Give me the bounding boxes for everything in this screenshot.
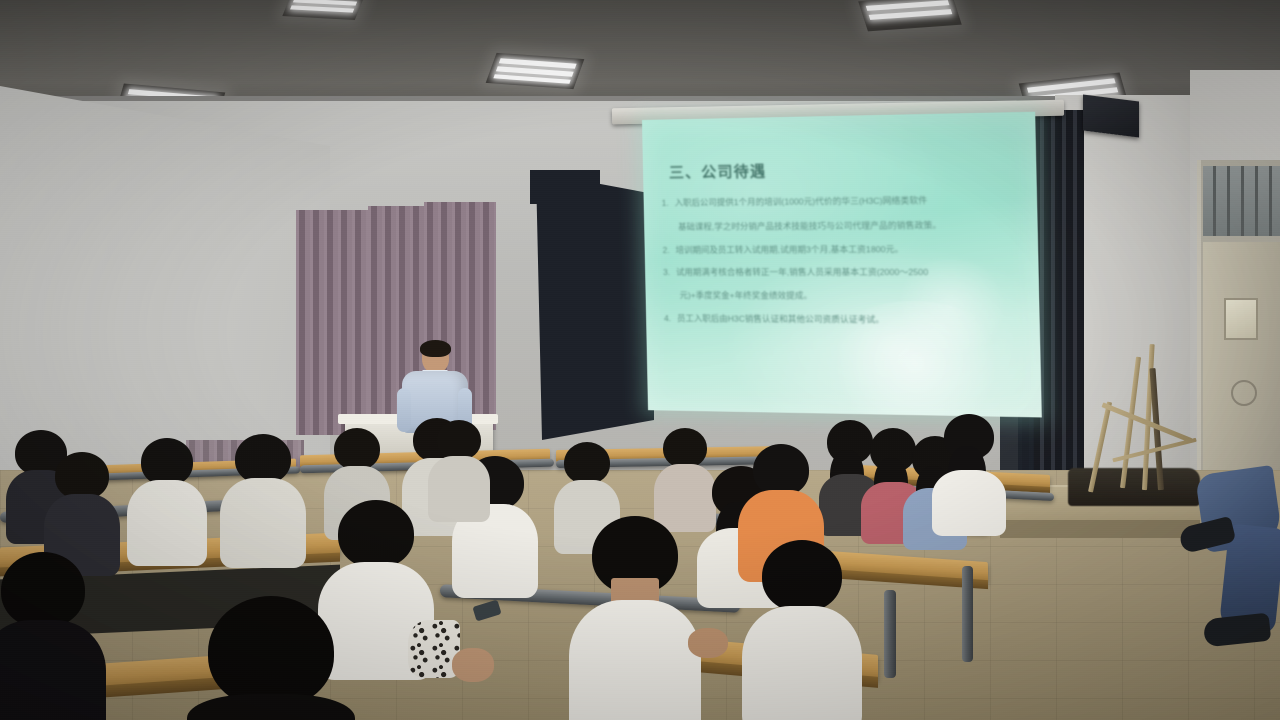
slide-content: 三、公司待遇 1.入职后公司提供1个月的培训(1000元)代价的华三(H3C)网… bbox=[642, 112, 1042, 418]
blackboard bbox=[536, 172, 654, 440]
bullet-number: 1. bbox=[662, 199, 675, 208]
presenter-glasses bbox=[424, 354, 447, 359]
person-torso bbox=[220, 478, 306, 568]
door-knob[interactable] bbox=[1231, 380, 1257, 406]
person-torso bbox=[187, 694, 355, 720]
person-head bbox=[753, 444, 809, 496]
person-head bbox=[1, 552, 85, 628]
person-torso bbox=[428, 456, 490, 522]
bullet-number: 4. bbox=[664, 315, 677, 324]
ceiling-light-fixture bbox=[486, 53, 585, 89]
slide-bullet-4: 4.员工入职后由H3C销售认证和其他公司资质认证考试。 bbox=[664, 315, 1022, 326]
shoe bbox=[1203, 613, 1272, 648]
audience-member bbox=[0, 552, 98, 720]
bullet-number: 2. bbox=[663, 246, 676, 255]
audience-member bbox=[132, 438, 202, 558]
audience-member bbox=[196, 596, 346, 720]
bullet-text: 入职后公司提供1个月的培训(1000元)代价的华三(H3C)网络类软件 bbox=[675, 195, 928, 208]
slide-title: 三、公司待遇 bbox=[669, 156, 1019, 182]
person-torso bbox=[0, 620, 106, 720]
person-head bbox=[437, 420, 481, 460]
person-head bbox=[334, 428, 380, 470]
audience-member bbox=[748, 540, 856, 720]
entry-door[interactable] bbox=[1203, 242, 1280, 490]
slide-bullet-3-continued: 元)+季度奖金+年终奖金绩效提成。 bbox=[679, 290, 1021, 303]
slide-bullet-3: 3.试用期满考核合格者转正一年,销售人员采用基本工资(2000～2500 bbox=[663, 267, 1021, 276]
person-head bbox=[564, 442, 610, 484]
person-head bbox=[762, 540, 842, 612]
door-vision-panel bbox=[1224, 298, 1258, 340]
bullet-text: 培训期间及员工转入试用期,试用期3个月,基本工资1800元。 bbox=[676, 244, 904, 255]
person-torso bbox=[742, 606, 862, 720]
audience-member bbox=[576, 516, 694, 720]
slide-bullet-1-continued: 基础课程,学之时分销产品技术技能技巧与公司代理产品的销售政策。 bbox=[678, 218, 1020, 233]
person-head bbox=[141, 438, 193, 486]
person-torso bbox=[932, 470, 1006, 536]
window-curtain bbox=[296, 210, 370, 435]
person-head bbox=[338, 500, 414, 568]
person-torso bbox=[569, 600, 701, 720]
standing-person-right bbox=[1186, 470, 1280, 720]
slide-bullet-2: 2.培训期间及员工转入试用期,试用期3个月,基本工资1800元。 bbox=[663, 244, 1021, 254]
bullet-text: 员工入职后由H3C销售认证和其他公司资质认证考试。 bbox=[677, 314, 884, 325]
person-head bbox=[55, 452, 109, 500]
bullet-text: 试用期满考核合格者转正一年,销售人员采用基本工资(2000～2500 bbox=[676, 266, 928, 276]
audience-member bbox=[224, 434, 302, 560]
audience-member bbox=[934, 414, 1004, 526]
person-head bbox=[208, 596, 334, 708]
person-torso bbox=[127, 480, 207, 566]
wall-speaker bbox=[1083, 95, 1139, 138]
bullet-number: 3. bbox=[663, 268, 676, 277]
door-transom-window bbox=[1203, 166, 1280, 236]
audience-member bbox=[430, 420, 488, 512]
slide-bullet-1: 1.入职后公司提供1个月的培训(1000元)代价的华三(H3C)网络类软件 bbox=[662, 195, 1020, 208]
person-head bbox=[663, 428, 707, 468]
blackboard-top-extension bbox=[530, 170, 600, 204]
person-head bbox=[235, 434, 291, 484]
platform-riser bbox=[1000, 520, 1200, 538]
hand bbox=[452, 648, 494, 682]
hand bbox=[688, 628, 728, 658]
classroom-photo: 三、公司待遇 1.入职后公司提供1个月的培训(1000元)代价的华三(H3C)网… bbox=[0, 0, 1280, 720]
projection-screen: 三、公司待遇 1.入职后公司提供1个月的培训(1000元)代价的华三(H3C)网… bbox=[642, 112, 1042, 418]
slide-bullet-list: 1.入职后公司提供1个月的培训(1000元)代价的华三(H3C)网络类软件 基础… bbox=[662, 195, 1023, 326]
